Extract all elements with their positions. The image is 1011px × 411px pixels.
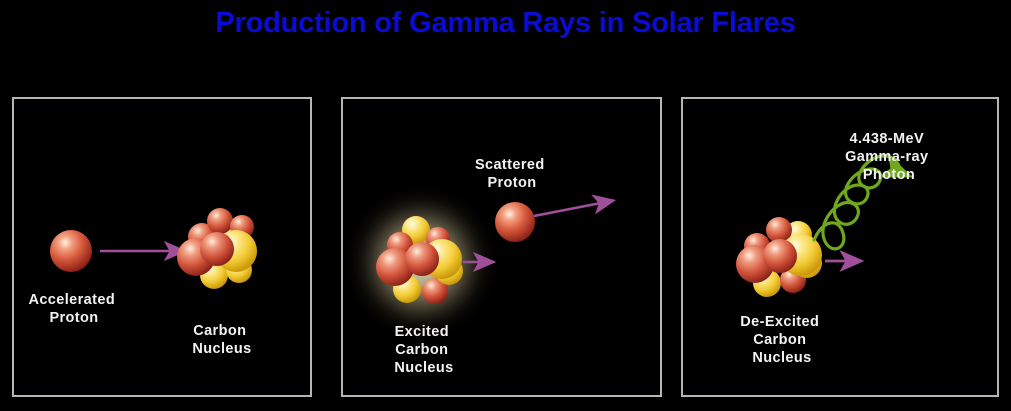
diagram-root: Production of Gamma Rays in Solar Flares (0, 0, 1011, 411)
proton-sphere (50, 230, 92, 272)
de-excited-carbon-nucleus-label: De-Excited Carbon Nucleus (740, 314, 823, 366)
panel-excited-carbon-nucleus: Scattered Proton Excited Carbon Nucleus (341, 97, 662, 397)
de-excited-carbon-nucleus-cluster (736, 217, 822, 297)
panel-accelerated-proton: Accelerated Proton Carbon Nucleus (12, 97, 312, 397)
carbon-nucleus-cluster (177, 208, 257, 289)
excited-carbon-nucleus-label: Excited Carbon Nucleus (394, 324, 453, 376)
page-title: Production of Gamma Rays in Solar Flares (0, 6, 1011, 40)
scatter-arrow (534, 201, 611, 216)
scattered-proton-label: Scattered Proton (475, 157, 549, 191)
carbon-nucleus-label: Carbon Nucleus (192, 323, 251, 357)
scattered-proton-sphere (495, 202, 535, 242)
accelerated-proton-label: Accelerated Proton (28, 292, 119, 326)
panel-gamma-ray-emission: 4.438-MeV Gamma-ray Photon De-Excited Ca… (681, 97, 999, 397)
